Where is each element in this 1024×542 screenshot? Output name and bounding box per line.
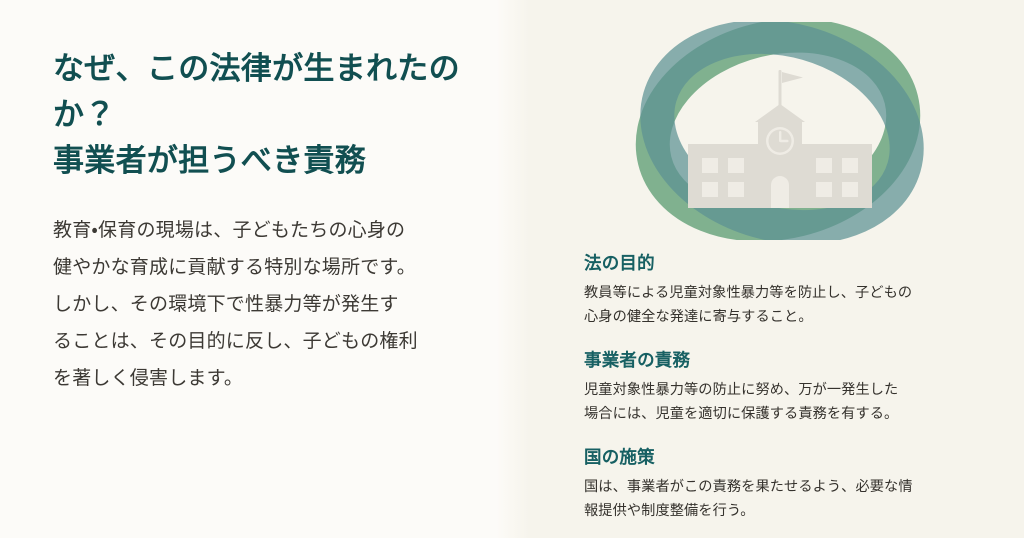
page-title: なぜ、この法律が生まれたのか？ 事業者が担うべき責務	[53, 46, 483, 184]
info-heading-purpose: 法の目的	[584, 252, 984, 277]
lead-paragraph: 教育・保育の現場は、子どもたちの心身の 健やかな育成に貢献する特別な場所です。 …	[53, 184, 483, 397]
bottom-strip	[0, 538, 1024, 542]
info-heading-national-policy: 国の施策	[584, 446, 984, 471]
school-building-icon	[688, 70, 872, 208]
info-block-purpose: 法の目的 教員等による児童対象性暴力等を防止し、子どもの 心身の健全な発達に寄与…	[584, 252, 984, 329]
right-content-column: 法の目的 教員等による児童対象性暴力等を防止し、子どもの 心身の健全な発達に寄与…	[584, 252, 984, 523]
info-block-operator-duty: 事業者の責務 児童対象性暴力等の防止に努め、万が一発生した 場合には、児童を適切…	[584, 349, 984, 426]
info-body-purpose: 教員等による児童対象性暴力等を防止し、子どもの 心身の健全な発達に寄与すること。	[584, 281, 984, 329]
left-content-column: なぜ、この法律が生まれたのか？ 事業者が担うべき責務 教育・保育の現場は、子ども…	[53, 46, 483, 397]
info-block-national-policy: 国の施策 国は、事業者がこの責務を果たせるよう、必要な情 報提供や制度整備を行う…	[584, 446, 984, 523]
slide-canvas: なぜ、この法律が生まれたのか？ 事業者が担うべき責務 教育・保育の現場は、子ども…	[0, 0, 1024, 542]
hero-illustration	[630, 22, 930, 240]
info-body-operator-duty: 児童対象性暴力等の防止に努め、万が一発生した 場合には、児童を適切に保護する責務…	[584, 378, 984, 426]
info-heading-operator-duty: 事業者の責務	[584, 349, 984, 374]
info-body-national-policy: 国は、事業者がこの責務を果たせるよう、必要な情 報提供や制度整備を行う。	[584, 475, 984, 523]
background-panel-seam	[496, 0, 530, 538]
